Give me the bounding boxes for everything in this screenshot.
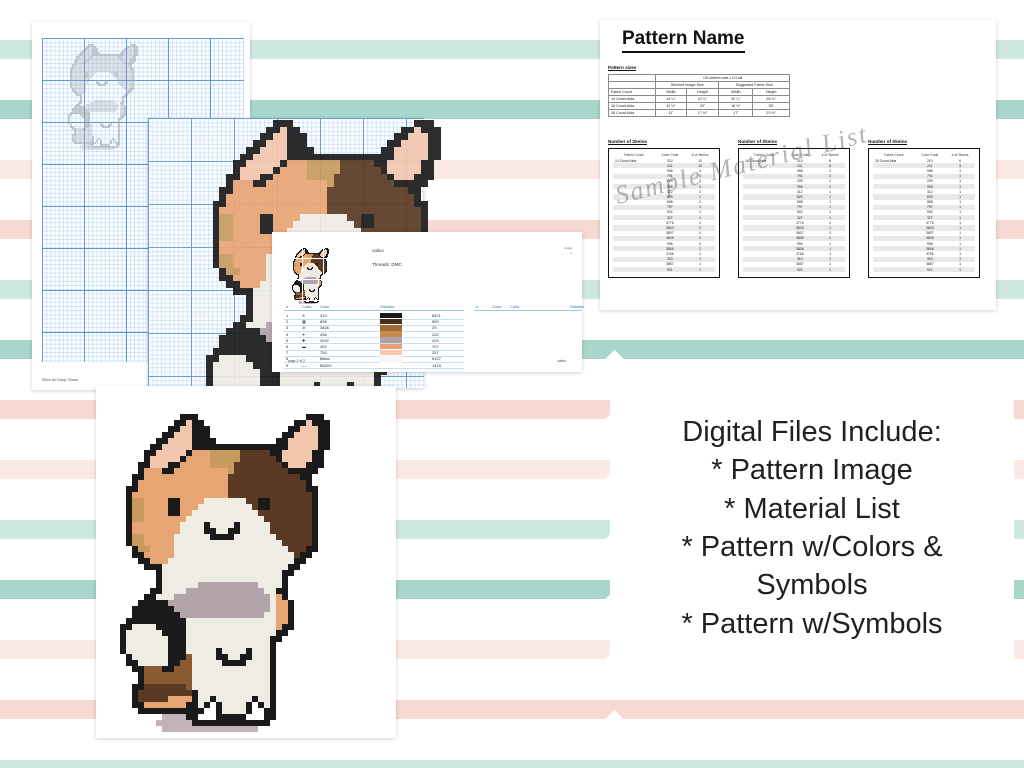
stitch-cell [293,133,300,140]
stitch-cell [327,160,334,167]
legend-code: Blanc [320,356,330,361]
stitch-cell [327,174,334,181]
stitch-cell [240,160,247,167]
legend-row-number: 4 [286,332,288,337]
stitch-cell [246,221,253,228]
stitch-cell [428,154,435,161]
stitch-cell [408,147,415,154]
stitch-cell [246,234,253,241]
stitch-cell [421,154,428,161]
stitch-cell [253,187,260,194]
stitch-cell [213,214,220,221]
stitch-cell [287,127,294,134]
stitch-cell [287,201,294,208]
stitch-cell [361,201,368,208]
stitch-symbol [122,116,124,118]
stitch-cell [367,194,374,201]
stitch-cell [421,180,428,187]
stitch-cell [374,201,381,208]
stitch-cell [246,261,253,268]
stitch-cell [233,194,240,201]
calico-cat-artwork [96,386,396,738]
legend-symbol: ▬ [302,344,306,349]
stitch-cell [340,167,347,174]
stitch-cell [394,140,401,147]
stitch-cell [387,194,394,201]
stitch-cell [288,624,294,630]
column-header: Height [753,89,790,96]
stitch-cell [219,228,226,235]
legend-footer-left: page 2 of 2 [288,359,305,363]
stitch-cell [253,180,260,187]
stitch-cell [314,375,321,382]
stitch-cell [300,167,307,174]
stitch-cell [260,342,267,349]
stitch-cell [266,133,273,140]
stitch-cell [240,348,247,355]
stitch-cell [361,221,368,228]
stitch-cell [287,160,294,167]
stitch-cell [340,194,347,201]
stitch-cell [273,140,280,147]
stitch-cell [219,348,226,355]
skein-heading: Number of Skeins [738,139,777,145]
stitch-cell [347,214,354,221]
stitch-cell [387,154,394,161]
stitch-cell [213,362,220,369]
stitch-cell [340,375,347,382]
stitch-cell [253,348,260,355]
stitch-cell [240,254,247,261]
stitch-cell [226,362,233,369]
stitch-cell [293,174,300,181]
stitch-cell [287,174,294,181]
stitch-cell [394,201,401,208]
stitch-cell [387,160,394,167]
legend-stitch-count: 257 [432,350,439,355]
stitch-cell [327,167,334,174]
stitch-cell [253,328,260,335]
stitch-cell [347,375,354,382]
table-cell: 28 ¼" [753,96,790,103]
stitch-cell [414,133,421,140]
stitch-cell [260,234,267,241]
legend-row-number: 3 [286,325,288,330]
stitch-cell [213,221,220,228]
stitch-cell [219,214,226,221]
stitch-cell [233,375,240,382]
stitch-cell [273,167,280,174]
stitch-cell [246,254,253,261]
stitch-cell [253,241,260,248]
stitch-cell [240,228,247,235]
stitch-cell [280,194,287,201]
skein-table-16-count: Number of SkeinsFabric CountColor Code# … [738,130,850,278]
stitch-cell [347,154,354,161]
stitch-cell [401,174,408,181]
stitch-cell [294,564,300,570]
stitch-cell [314,154,321,161]
stitch-cell [327,187,334,194]
legend-stitch-count: 222 [432,332,439,337]
stitch-cell [334,201,341,208]
stitch-cell [374,221,381,228]
stitch-cell [321,285,322,286]
legend-row-number: 6 [286,344,288,349]
stitch-cell [233,234,240,241]
stitch-cell [246,248,253,255]
stitch-cell [253,268,260,275]
stitch-cell [300,180,307,187]
legend-column-header: Stitches [570,304,584,309]
stitch-cell [260,295,267,302]
stitch-cell [233,214,240,221]
stitch-cell [401,207,408,214]
stitch-cell [354,207,361,214]
stitch-symbol [70,114,72,116]
stitch-symbol [124,96,126,98]
stitch-cell [246,228,253,235]
stitch-cell [361,214,368,221]
stitch-cell [213,241,220,248]
stitch-cell [414,154,421,161]
legend-symbol: ✕ [302,313,305,318]
stitch-cell [401,154,408,161]
stitch-cell [361,375,368,382]
stitch-cell [240,248,247,255]
stitch-cell [273,214,280,221]
stitch-cell [408,140,415,147]
stitch-cell [408,221,415,228]
stitch-cell [320,187,327,194]
legend-color-swatch [380,337,402,343]
stitch-cell [374,214,381,221]
stitch-cell [246,322,253,329]
stitch-cell [293,140,300,147]
stitch-cell [367,201,374,208]
stitch-cell [414,201,421,208]
stitch-cell [287,187,294,194]
stitch-cell [334,375,341,382]
stitch-cell [374,174,381,181]
stitch-cell [270,714,276,720]
stitch-cell [326,257,327,258]
stitch-cell [266,180,273,187]
stitch-cell [260,375,267,382]
stitch-cell [253,355,260,362]
stitch-cell [347,207,354,214]
stitch-cell [226,241,233,248]
stitch-cell [361,174,368,181]
stitch-cell [264,720,270,726]
stitch-cell [260,362,267,369]
stitch-cell [307,160,314,167]
stitch-cell [320,160,327,167]
stitch-cell [260,315,267,322]
stitch-cell [233,187,240,194]
stitch-cell [401,147,408,154]
legend-symbol: · [302,350,303,355]
stitch-cell [387,167,394,174]
stitch-cell [300,133,307,140]
stitch-cell [260,348,267,355]
column-header: Fabric Count [609,89,656,96]
stitch-cell [421,147,428,154]
stitch-cell [414,127,421,134]
stitch-cell [260,335,267,342]
stitch-cell [414,140,421,147]
stitch-cell [354,174,361,181]
stitch-cell [260,241,267,248]
stitch-cell [219,275,226,282]
stitch-cell [240,315,247,322]
stitch-cell [401,221,408,228]
legend-symbol: ▦ [302,319,306,324]
stitch-cell [394,147,401,154]
stitch-cell [408,133,415,140]
stitch-cell [273,154,280,161]
stitch-cell [401,127,408,134]
pattern-sizes-heading: Pattern sizes [608,65,636,71]
stitch-cell [421,127,428,134]
stitch-cell [240,335,247,342]
stitch-cell [260,214,267,221]
legend-column-header: # [286,304,288,309]
stitch-cell [347,194,354,201]
stitch-cell [374,187,381,194]
stitch-cell [246,295,253,302]
stitch-cell [320,167,327,174]
stitch-cell [240,369,247,376]
stitch-cell [226,221,233,228]
stitch-cell [219,194,226,201]
stitch-cell [226,369,233,376]
stitch-cell [381,180,388,187]
stitch-cell [273,187,280,194]
stitch-cell [394,167,401,174]
stitch-cell [293,207,300,214]
stitch-cell [367,180,374,187]
legend-threads-label: Threads: DMC [372,262,402,267]
stitch-cell [233,160,240,167]
stitch-cell [387,187,394,194]
stitch-cell [253,362,260,369]
table-cell: 20" [686,103,719,110]
stitch-cell [421,160,428,167]
thread-legend-sheet: calico Threads: DMC Index1 #CodeColorSti… [272,232,582,372]
table-cell: 17" [719,110,753,117]
stitch-cell [233,288,240,295]
stitch-cell [240,214,247,221]
sizes-note: 100 stitches wide x 113 tall [656,75,790,82]
stitch-cell [414,160,421,167]
stitch-cell [246,315,253,322]
stitch-cell [293,375,300,382]
stitch-symbol [92,74,94,76]
stitch-cell [307,375,314,382]
stitch-cell [293,214,300,221]
stitch-cell [334,194,341,201]
stitch-symbol [108,126,110,128]
stitch-cell [246,160,253,167]
stitch-cell [253,234,260,241]
stitch-cell [300,221,307,228]
stitch-cell [233,201,240,208]
stitch-cell [226,328,233,335]
stitch-cell [213,261,220,268]
stitch-cell [260,328,267,335]
stitch-cell [219,261,226,268]
table-cell: 18 Count Aida [609,110,656,117]
stitch-cell [414,180,421,187]
stitch-cell [219,201,226,208]
stitch-cell [240,167,247,174]
stitch-cell [246,241,253,248]
stitch-symbol [90,76,92,78]
table-cell: 16 Count Aida [609,103,656,110]
stitch-cell [233,174,240,181]
stitch-cell [381,221,388,228]
stitch-cell [381,207,388,214]
pattern-thumbnail [286,246,344,294]
stitch-cell [266,187,273,194]
stitch-cell [408,187,415,194]
stitch-cell [280,154,287,161]
stitch-cell [240,201,247,208]
stitch-cell [206,355,213,362]
stitch-cell [240,234,247,241]
stitch-cell [401,194,408,201]
legend-symbol: ✦ [302,332,305,337]
stitch-cell [293,221,300,228]
stitch-cell [246,147,253,154]
stitch-cell [287,207,294,214]
stitch-cell [434,140,441,147]
stitch-cell [266,147,273,154]
stitch-cell [273,120,280,127]
stitch-cell [408,160,415,167]
stitch-cell [219,342,226,349]
stitch-symbol [118,144,120,146]
legend-symbol: — [302,363,306,368]
stitch-cell [314,187,321,194]
skein-table: Fabric CountColor Code# of Skeins14 Coun… [613,152,715,272]
stitch-cell [219,335,226,342]
stitch-cell [273,201,280,208]
stitch-cell [280,221,287,228]
stitch-cell [246,288,253,295]
stitch-cell [266,140,273,147]
group-header: Stitched Image Size [656,82,719,89]
stitch-cell [421,214,428,221]
stitch-cell [246,201,253,208]
stitch-cell [347,167,354,174]
stitch-cell [387,207,394,214]
stitch-cell [340,187,347,194]
stitch-symbol [114,110,116,112]
stitch-cell [340,174,347,181]
stitch-cell [226,194,233,201]
stitch-cell [266,174,273,181]
legend-color-swatch [380,350,402,356]
stitch-cell [314,214,321,221]
stitch-cell [253,228,260,235]
stitch-cell [340,180,347,187]
legend-column-header: Color [320,304,330,309]
stitch-cell [273,133,280,140]
stitch-cell [246,174,253,181]
stitch-cell [361,187,368,194]
stitch-cell [374,194,381,201]
stitch-cell [226,355,233,362]
legend-row-number: 1 [286,313,288,318]
stitch-cell [340,214,347,221]
stitch-cell [394,221,401,228]
stitch-cell [253,254,260,261]
stitch-cell [287,221,294,228]
skein-table-14-count: Number of SkeinsFabric CountColor Code# … [608,130,720,278]
stitch-cell [421,207,428,214]
stitch-cell [307,194,314,201]
legend-code: 436 [320,332,327,337]
stitch-cell [367,154,374,161]
stitch-cell [213,228,220,235]
stitch-cell [307,154,314,161]
legend-color-swatch [380,362,402,368]
stitch-cell [233,281,240,288]
stitch-cell [253,167,260,174]
stitch-cell [374,207,381,214]
stitch-cell [280,214,287,221]
stitch-cell [246,308,253,315]
legend-row-rule [284,368,464,369]
legend-column-header: Color [510,304,520,309]
stitch-cell [320,201,327,208]
stitch-cell [347,174,354,181]
stitch-cell [260,194,267,201]
stitch-cell [240,180,247,187]
stitch-cell [347,221,354,228]
stitch-cell [226,375,233,382]
stitch-cell [280,167,287,174]
legend-code: 310 [320,313,327,318]
stitch-cell [253,295,260,302]
stitch-cell [226,281,233,288]
skein-table: Fabric CountColor Code# of Skeins16 Coun… [743,152,845,272]
stitch-cell [334,174,341,181]
stitch-cell [287,180,294,187]
stitch-cell [315,303,316,304]
stitch-cell [314,167,321,174]
stitch-cell [307,187,314,194]
stitch-cell [288,570,294,576]
stitch-cell [240,174,247,181]
stitch-cell [226,201,233,208]
stitch-cell [240,342,247,349]
stitch-cell [307,207,314,214]
stitch-cell [253,147,260,154]
stitch-cell [300,201,307,208]
chevron-stripe [0,760,1024,768]
stitch-cell [266,201,273,208]
stitch-cell [374,180,381,187]
stitch-cell [233,348,240,355]
stitch-cell [320,194,327,201]
stitch-cell [414,194,421,201]
stitch-cell [240,268,247,275]
stitch-cell [367,375,374,382]
stitch-cell [421,221,428,228]
